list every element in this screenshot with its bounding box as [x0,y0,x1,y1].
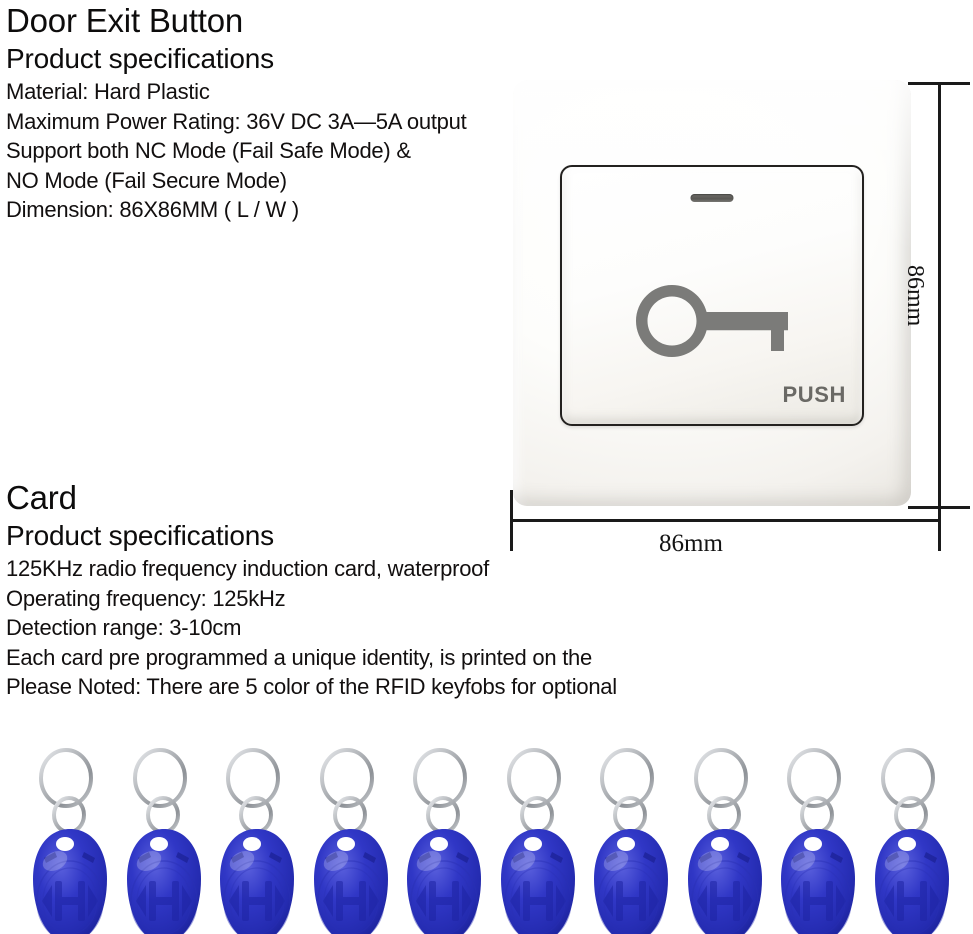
spec-line: Material: Hard Plastic [6,77,467,107]
rfid-keyfob [116,745,212,934]
spec-line: Maximum Power Rating: 36V DC 3A—5A outpu… [6,107,467,137]
rfid-keyfob [396,745,492,934]
spec-line: Detection range: 3-10cm [6,613,617,643]
rfid-keyfob [303,745,399,934]
spec-line: NO Mode (Fail Secure Mode) [6,166,467,196]
spec-line: Support both NC Mode (Fail Safe Mode) & [6,136,467,166]
rfid-keyfob [209,745,305,934]
key-icon [636,285,788,364]
spec-line: Please Noted: There are 5 color of the R… [6,672,617,702]
push-label: PUSH [782,382,846,408]
spec-line: Dimension: 86X86MM ( L / W ) [6,195,467,225]
door-exit-button-spec-block: Door Exit Button Product specifications … [6,0,467,225]
rfid-keyfob [677,745,773,934]
dimension-cap-right [938,490,941,551]
rfid-keyfob [770,745,866,934]
button-rocker-panel: PUSH [560,165,864,426]
card-spec-block: Card Product specifications 125KHz radio… [6,477,617,702]
product-spec-image: Door Exit Button Product specifications … [0,0,973,934]
spec-line: 125KHz radio frequency induction card, w… [6,554,617,584]
rfid-keyfob [22,745,118,934]
dimension-line-vertical [938,83,941,509]
rfid-keyfob [583,745,679,934]
section-subtitle: Product specifications [6,518,617,554]
spec-line: Each card pre programmed a unique identi… [6,643,617,673]
dimension-label-height: 86mm [901,265,928,326]
section-subtitle: Product specifications [6,41,467,77]
rfid-keyfob-row [0,745,973,934]
section-title: Door Exit Button [6,0,467,41]
door-exit-button-photo: PUSH [513,80,911,506]
dimension-label-width: 86mm [659,530,723,558]
rfid-keyfob [864,745,960,934]
rfid-keyfob [490,745,586,934]
dimension-line-horizontal [511,519,941,522]
led-indicator-slot [691,194,734,202]
spec-line: Operating frequency: 125kHz [6,584,617,614]
